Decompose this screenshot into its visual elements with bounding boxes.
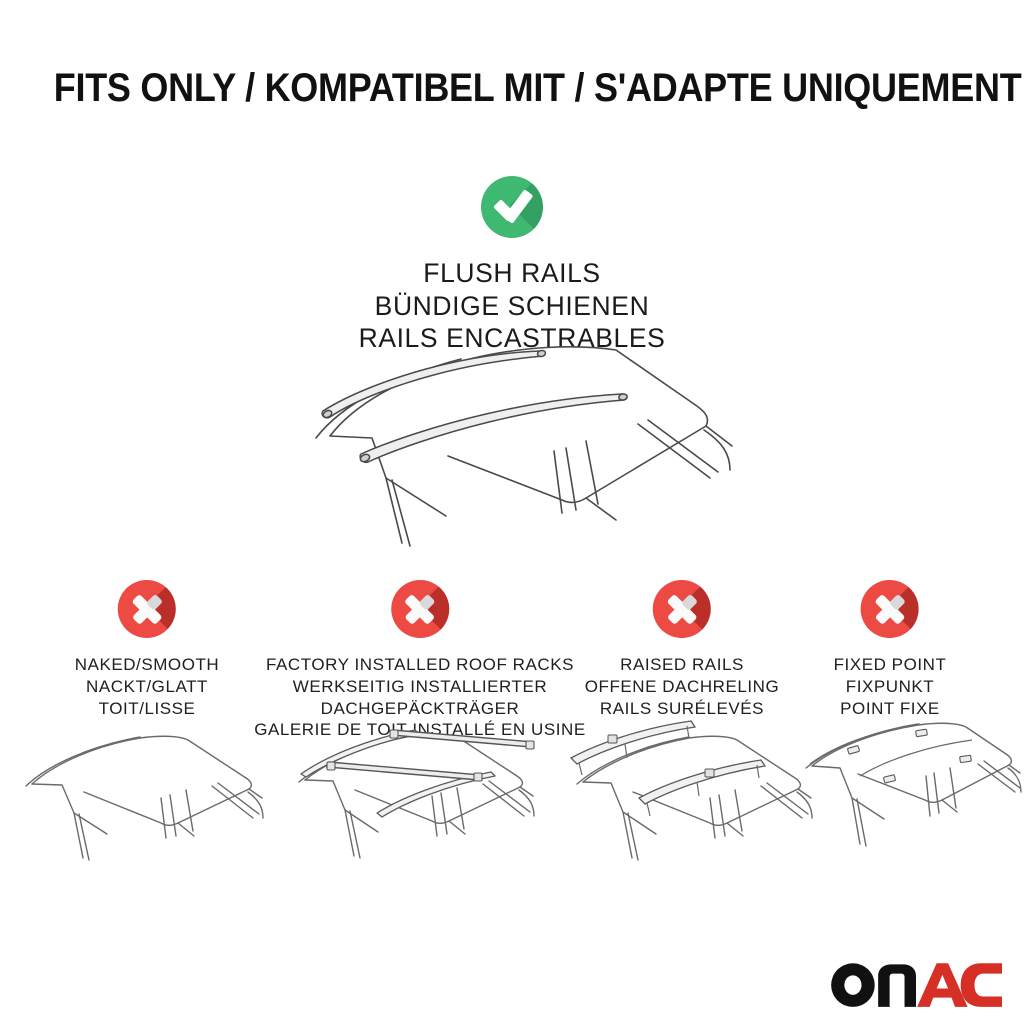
car-roof-with-fixed-points-illustration — [800, 718, 1024, 898]
incompatible-label: NAKED/SMOOTH NACKT/GLATT TOIT/LISSE — [75, 654, 220, 719]
label-line: NACKT/GLATT — [75, 676, 220, 698]
label-line: DACHGEPÄCKTRÄGER — [254, 698, 586, 720]
check-mark-glyph — [481, 176, 543, 238]
label-line: POINT FIXE — [834, 698, 947, 720]
header: FITS ONLY / KOMPATIBEL MIT / S'ADAPTE UN… — [0, 66, 1024, 111]
car-roof-with-factory-crossbars-illustration — [275, 718, 555, 898]
omac-logo — [830, 962, 1002, 1008]
label-line: TOIT/LISSE — [75, 698, 220, 720]
page-title: FITS ONLY / KOMPATIBEL MIT / S'ADAPTE UN… — [54, 66, 1022, 111]
green-check-circle-icon — [481, 176, 543, 238]
incompatible-item-raised-rails: RAISED RAILS OFFENE DACHRELING RAILS SUR… — [585, 580, 779, 719]
incompatible-label: RAISED RAILS OFFENE DACHRELING RAILS SUR… — [585, 654, 779, 719]
incompatible-label: FIXED POINT FIXPUNKT POINT FIXE — [834, 654, 947, 719]
car-roof-with-raised-rails-illustration — [555, 718, 830, 898]
incompatible-section: NAKED/SMOOTH NACKT/GLATT TOIT/LISSE FACT… — [0, 580, 1024, 720]
logo-letter-o — [831, 963, 875, 1007]
logo-letter-m — [878, 964, 916, 1006]
label-line: FIXED POINT — [834, 654, 947, 676]
red-x-circle-icon — [861, 580, 919, 638]
red-x-circle-icon — [118, 580, 176, 638]
incompatible-item-fixed-point: FIXED POINT FIXPUNKT POINT FIXE — [834, 580, 947, 719]
logo-letter-c — [961, 963, 1002, 1007]
label-line: FIXPUNKT — [834, 676, 947, 698]
compatible-label-en: FLUSH RAILS — [0, 257, 1024, 290]
red-x-circle-icon — [391, 580, 449, 638]
label-line: NAKED/SMOOTH — [75, 654, 220, 676]
label-line: FACTORY INSTALLED ROOF RACKS — [254, 654, 586, 676]
label-line: RAILS SURÉLEVÉS — [585, 698, 779, 720]
car-roof-with-flush-rails-illustration — [286, 338, 756, 568]
label-line: WERKSEITIG INSTALLIERTER — [254, 676, 586, 698]
compatible-label-de: BÜNDIGE SCHIENEN — [0, 290, 1024, 323]
car-roof-bare-illustration — [10, 718, 270, 898]
label-line: RAISED RAILS — [585, 654, 779, 676]
red-x-circle-icon — [653, 580, 711, 638]
compatible-section: FLUSH RAILS BÜNDIGE SCHIENEN RAILS ENCAS… — [0, 176, 1024, 355]
incompatible-item-naked-smooth: NAKED/SMOOTH NACKT/GLATT TOIT/LISSE — [75, 580, 220, 719]
incompatible-item-factory-roof-racks: FACTORY INSTALLED ROOF RACKS WERKSEITIG … — [254, 580, 586, 741]
label-line: OFFENE DACHRELING — [585, 676, 779, 698]
incompatible-illustrations — [0, 718, 1024, 908]
logo-letter-a — [917, 963, 967, 1007]
